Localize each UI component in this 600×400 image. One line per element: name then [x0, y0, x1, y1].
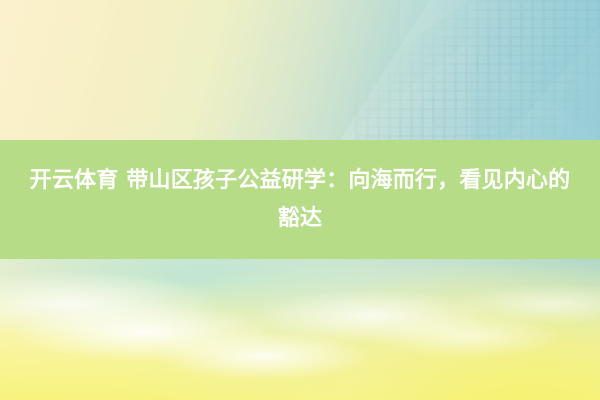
title-band: 开云体育 带山区孩子公益研学：向海而行，看见内心的豁达 — [0, 140, 600, 259]
page-title: 开云体育 带山区孩子公益研学：向海而行，看见内心的豁达 — [22, 162, 578, 238]
background-faint-grid-texture — [355, 0, 600, 140]
banner-canvas: 开云体育 带山区孩子公益研学：向海而行，看见内心的豁达 — [0, 0, 600, 400]
